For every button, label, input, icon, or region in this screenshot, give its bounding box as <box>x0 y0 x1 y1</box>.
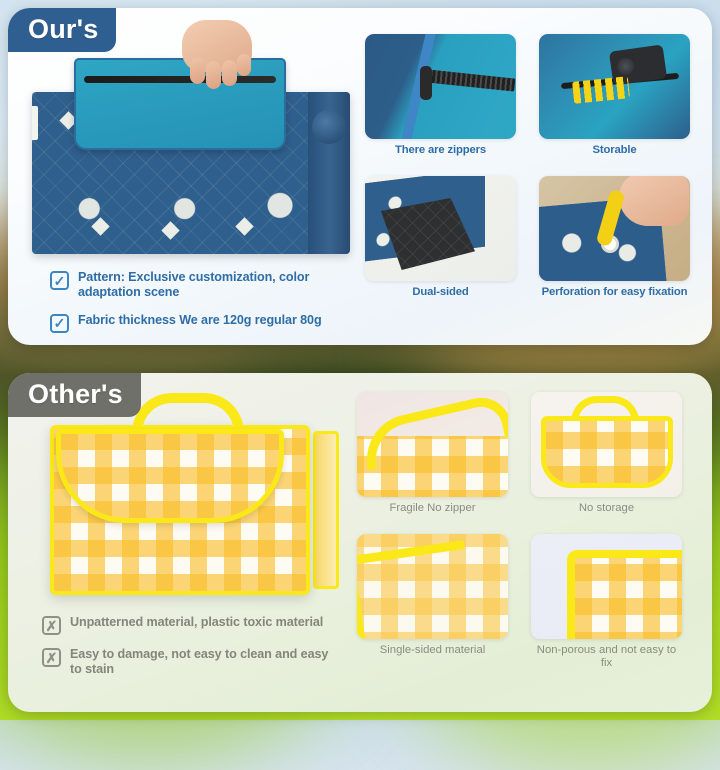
thumbnail-caption: Non-porous and not easy to fix <box>531 644 682 670</box>
thumbnail-caption: There are zippers <box>365 144 516 170</box>
thumbnail-caption: Storable <box>539 144 690 170</box>
hand-illustration <box>174 16 256 90</box>
thumbnail-caption: Dual-sided <box>365 286 516 312</box>
others-thumbnail-grid: Fragile No zipper No storage Single-side… <box>357 392 682 670</box>
bullet-item: ✗ Easy to damage, not easy to clean and … <box>42 647 332 678</box>
ours-hero-image <box>26 22 356 260</box>
zipper-closeup-image <box>365 34 516 139</box>
thumbnail-cell: Storable <box>539 34 690 170</box>
yellow-pegs-icon <box>572 76 630 104</box>
others-badge: Other's <box>8 373 141 417</box>
thumbnail-cell: Perforation for easy fixation <box>539 176 690 312</box>
rolled-edge <box>308 92 350 254</box>
single-sided-image <box>357 534 508 639</box>
non-porous-corner-image <box>531 534 682 639</box>
thumbnail-cell: There are zippers <box>365 34 516 170</box>
ours-panel: Our's ✓ Pattern: Exclusive customization… <box>8 8 712 345</box>
thumbnail-cell: No storage <box>531 392 682 528</box>
thumbnail-caption: Single-sided material <box>357 644 508 670</box>
fabric-tab <box>32 106 38 140</box>
thumbnail-cell: Fragile No zipper <box>357 392 508 528</box>
thumbnail-caption: Perforation for easy fixation <box>539 286 690 312</box>
zipper-pull-icon <box>420 66 432 100</box>
cross-icon: ✗ <box>42 648 61 667</box>
bullet-text: Easy to damage, not easy to clean and ea… <box>70 647 332 678</box>
bullet-text: Fabric thickness We are 120g regular 80g <box>78 313 322 328</box>
ours-badge: Our's <box>8 8 116 52</box>
ours-bullet-list: ✓ Pattern: Exclusive customization, colo… <box>50 270 340 345</box>
check-icon: ✓ <box>50 314 69 333</box>
thumbnail-cell: Non-porous and not easy to fix <box>531 534 682 670</box>
ours-thumbnail-grid: There are zippers Storable Dual-sided <box>365 34 690 312</box>
perforation-grommet-image <box>539 176 690 281</box>
thumbnail-cell: Single-sided material <box>357 534 508 670</box>
bullet-item: ✓ Pattern: Exclusive customization, colo… <box>50 270 340 301</box>
dual-sided-image <box>365 176 516 281</box>
gingham-flap <box>56 429 284 523</box>
bullet-item: ✓ Fabric thickness We are 120g regular 8… <box>50 313 340 333</box>
thumbnail-caption: Fragile No zipper <box>357 502 508 528</box>
bullet-text: Unpatterned material, plastic toxic mate… <box>70 615 323 630</box>
bullet-text: Pattern: Exclusive customization, color … <box>78 270 340 301</box>
no-storage-image <box>531 392 682 497</box>
thumbnail-cell: Dual-sided <box>365 176 516 312</box>
fabric-corner-icon <box>567 550 682 639</box>
bullet-item: ✗ Unpatterned material, plastic toxic ma… <box>42 615 332 635</box>
blanket-side-roll <box>313 431 339 589</box>
storage-pocket-image <box>539 34 690 139</box>
fragile-handle-image <box>357 392 508 497</box>
fabric-corner-icon <box>357 540 477 639</box>
thumbnail-caption: No storage <box>531 502 682 528</box>
others-bullet-list: ✗ Unpatterned material, plastic toxic ma… <box>42 615 332 690</box>
others-hero-image <box>50 405 325 595</box>
check-icon: ✓ <box>50 271 69 290</box>
cross-icon: ✗ <box>42 616 61 635</box>
